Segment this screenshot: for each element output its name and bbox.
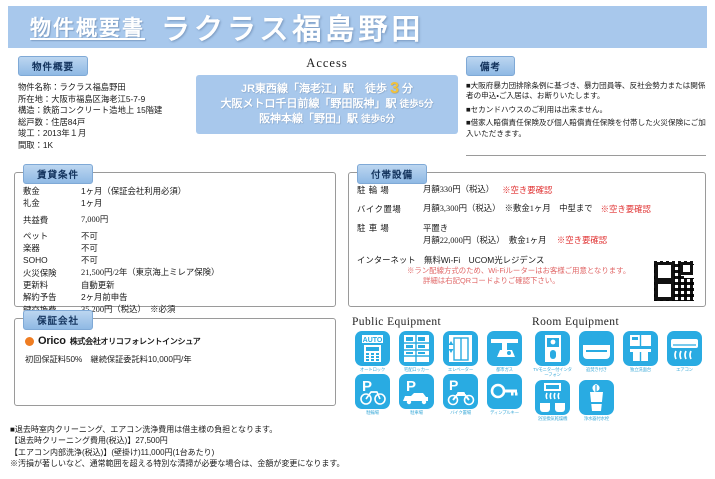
equipment-item: TVモニター付インターフォン — [532, 331, 573, 378]
guarantee-brand: Orico — [38, 335, 66, 347]
table-row: バイク置場 月額3,300円（税込） ※敷金1ヶ月 中型まで ※空き要確認 — [357, 203, 705, 215]
equipment-item: 追焚き付き — [576, 331, 617, 378]
guarantee-logo-row: Orico 株式会社オリコフォレントインシュア — [25, 335, 335, 347]
row-key: 駐 車 場 — [357, 222, 423, 247]
access-line-2: 大阪メトロ千日前線「野田阪神」駅 徒歩5分 — [200, 97, 454, 112]
table-row: 共益費 7,000円 — [23, 214, 335, 226]
equipment-label: 駐輪場 — [352, 410, 393, 415]
svg-text:P: P — [406, 378, 416, 395]
table-row: 解約予告 2ヶ月前申告 — [23, 291, 335, 303]
equipment-label: バイク置場 — [440, 410, 481, 415]
list-item: 物件名称：ラクラス福島野田 — [18, 82, 198, 94]
equipment-label: 宅配ロッカー — [396, 367, 437, 372]
table-row: 駐 輪 場 月額330円（税込） ※空き要確認 — [357, 184, 705, 196]
table-row: 駐 車 場 平置き 月額22,000円（税込） 敷金1ヶ月 ※空き要確認 — [357, 222, 705, 247]
remarks-item: ■セカンドハウスのご利用は出来ません。 — [466, 105, 706, 115]
row-key: ペット — [23, 230, 81, 242]
equipment-label: 浴室換気乾燥機 — [532, 416, 573, 421]
equipment-label: 独立洗面台 — [620, 367, 661, 372]
row-key: 火災保険 — [23, 267, 81, 279]
row-value: 7,000円 — [81, 214, 108, 226]
row-note: ※空き要確認 — [601, 203, 651, 215]
document-header: 物件概要書 ラクラス福島野田 — [8, 6, 707, 48]
equipment-label: オートロック — [352, 367, 393, 372]
row-key: バイク置場 — [357, 203, 423, 215]
equipment-item: 浄水器付水栓 — [576, 380, 617, 421]
equipment-label: 都市ガス — [484, 367, 525, 372]
access-walk-minutes-highlight: 3 — [390, 80, 399, 97]
remarks-divider — [466, 155, 706, 156]
row-value: 2ヶ月前申告 — [81, 291, 128, 303]
row-value: 不可 — [81, 242, 98, 254]
rent-conditions-rows: 敷金 1ヶ月（保証会社利用必須） 礼金 1ヶ月 共益費 7,000円 ペット 不… — [23, 185, 335, 316]
access-line-1-suffix: 分 — [402, 83, 413, 95]
row-note: ※空き要確認 — [502, 184, 552, 196]
washstand-icon — [623, 331, 658, 366]
access-section: Access JR東西線「海老江」駅 徒歩 3 分 大阪メトロ千日前線「野田阪神… — [196, 56, 458, 134]
equipment-item: 都市ガス — [484, 331, 525, 372]
row-note: ※空き要確認 — [557, 235, 607, 245]
air-conditioner-icon — [667, 331, 702, 366]
row-value: 不可 — [81, 254, 98, 266]
access-line-3-suffix: 徒歩6分 — [361, 114, 395, 125]
row-key: 楽器 — [23, 242, 81, 254]
list-item: 竣工：2013年１月 — [18, 128, 198, 140]
bath-reheat-icon — [579, 331, 614, 366]
row-value: 35,200円（税込） ※必須 — [81, 304, 175, 316]
equipment-item: エレベーター — [440, 331, 481, 372]
row-key: 共益費 — [23, 214, 81, 226]
equipment-label: エレベーター — [440, 367, 481, 372]
row-key: 駐 輪 場 — [357, 184, 423, 196]
access-line-3-text: 阪神本線「野田」駅 — [259, 113, 358, 125]
list-item: 構造：鉄筋コンクリート造地上 15階建 — [18, 105, 198, 117]
building-name-title: ラクラス福島野田 — [161, 6, 424, 48]
table-row: ペット 不可 — [23, 230, 335, 242]
equipment-item: P 駐車場 — [396, 374, 437, 415]
row-value: 1ヶ月（保証会社利用必須） — [81, 185, 186, 197]
remarks-body: ■大阪府暴力団排除条例に基づき、暴力団員等、反社会勢力または関係者の申込・ご入居… — [466, 81, 706, 139]
public-equipment-title: Public Equipment — [352, 316, 528, 328]
public-equipment-section: Public Equipment AUTO オートロック — [352, 316, 528, 416]
rent-conditions-tab-label: 賃貸条件 — [23, 164, 93, 184]
row-value-secondary: 月額22,000円（税込） 敷金1ヶ月 ※空き要確認 — [423, 234, 607, 247]
orico-logo-icon — [25, 337, 34, 346]
row-value: 21,500円/2年（東京海上ミレア保険） — [81, 267, 219, 279]
property-overview-tab-label: 物件概要 — [18, 56, 88, 76]
guarantee-body: Orico 株式会社オリコフォレントインシュア 初回保証料50% 継続保証委託料… — [25, 335, 335, 365]
equipment-item: P 駐輪場 — [352, 374, 393, 415]
equipment-item: P バイク置場 — [440, 374, 481, 415]
row-value: 1ヶ月 — [81, 197, 102, 209]
facilities-panel: 付帯設備 駐 輪 場 月額330円（税込） ※空き要確認 バイク置場 月額3,3… — [348, 172, 706, 307]
facilities-tab-label: 付帯設備 — [357, 164, 427, 184]
list-item: 間取：1K — [18, 140, 198, 152]
property-summary-document: 物件概要書 ラクラス福島野田 物件概要 物件名称：ラクラス福島野田 所在地：大阪… — [0, 0, 715, 479]
footer-note: 【退去時クリーニング費用(税込)】27,500円 — [10, 435, 570, 446]
dimple-key-icon — [487, 374, 522, 409]
svg-text:P: P — [449, 377, 458, 393]
row-key: 更新料 — [23, 279, 81, 291]
equipment-item: AUTO オートロック — [352, 331, 393, 372]
auto-lock-icon: AUTO — [355, 331, 390, 366]
property-overview-list: 物件名称：ラクラス福島野田 所在地：大阪市福島区海老江5-7-9 構造：鉄筋コン… — [18, 82, 198, 152]
equipment-item: 宅配ロッカー — [396, 331, 437, 372]
facilities-rows: 駐 輪 場 月額330円（税込） ※空き要確認 バイク置場 月額3,300円（税… — [357, 184, 705, 286]
access-line-3: 阪神本線「野田」駅 徒歩6分 — [200, 112, 454, 127]
access-line-1-text: JR東西線「海老江」駅 徒歩 — [241, 83, 387, 95]
guarantee-fee: 初回保証料50% 継続保証委託料10,000円/年 — [25, 353, 335, 365]
row-key: 解約予告 — [23, 291, 81, 303]
equipment-label: TVモニター付インターフォン — [532, 367, 573, 378]
access-line-1: JR東西線「海老江」駅 徒歩 3 分 — [200, 81, 454, 97]
access-line-2-suffix: 徒歩5分 — [400, 99, 434, 110]
row-key: 敷金 — [23, 185, 81, 197]
list-item: 総戸数：住居84戸 — [18, 117, 198, 129]
row-value-group: 平置き 月額22,000円（税込） 敷金1ヶ月 ※空き要確認 — [423, 222, 607, 247]
rent-conditions-panel: 賃貸条件 敷金 1ヶ月（保証会社利用必須） 礼金 1ヶ月 共益費 7,000円 … — [14, 172, 336, 307]
public-equipment-grid: AUTO オートロック — [352, 331, 528, 416]
footer-note: ※汚損が著しいなど、通常範囲を超える特別な清掃が必要な場合は、金額が変更になりま… — [10, 458, 570, 469]
guarantee-tab-label: 保証会社 — [23, 310, 93, 330]
delivery-box-icon — [399, 331, 434, 366]
table-row: 火災保険 21,500円/2年（東京海上ミレア保険） — [23, 267, 335, 279]
equipment-label: エアコン — [664, 367, 705, 372]
row-value: 月額330円（税込） — [423, 184, 494, 196]
row-value: 月額3,300円（税込） ※敷金1ヶ月 中型まで — [423, 203, 593, 215]
equipment-item: 浴室換気乾燥機 — [532, 380, 573, 421]
equipment-item: 独立洗面台 — [620, 331, 661, 378]
list-item: 所在地：大阪市福島区海老江5-7-9 — [18, 94, 198, 106]
elevator-icon — [443, 331, 478, 366]
access-box: JR東西線「海老江」駅 徒歩 3 分 大阪メトロ千日前線「野田阪神」駅 徒歩5分… — [196, 75, 458, 134]
equipment-label: ディンプルキー — [484, 410, 525, 415]
bath-dryer-icon — [535, 380, 570, 415]
guarantee-corp-name: 株式会社オリコフォレントインシュア — [70, 336, 201, 347]
bicycle-parking-icon: P — [355, 374, 390, 409]
svg-text:AUTO: AUTO — [363, 337, 383, 344]
intercom-icon — [535, 331, 570, 366]
equipment-item: エアコン — [664, 331, 705, 378]
footer-notes: ■退去時室内クリーニング、エアコン洗浄費用は借主様の負担となります。 【退去時ク… — [10, 424, 570, 470]
access-title: Access — [196, 56, 458, 71]
remarks-item: ■大阪府暴力団排除条例に基づき、暴力団員等、反社会勢力または関係者の申込・ご入居… — [466, 81, 706, 102]
car-parking-icon: P — [399, 374, 434, 409]
remarks-section: 備考 ■大阪府暴力団排除条例に基づき、暴力団員等、反社会勢力または関係者の申込・… — [466, 56, 706, 156]
water-purifier-icon — [579, 380, 614, 415]
equipment-label: 浄水器付水栓 — [576, 416, 617, 421]
equipment-label: 駐車場 — [396, 410, 437, 415]
row-value: 自動更新 — [81, 279, 115, 291]
row-value-2: 月額22,000円（税込） 敷金1ヶ月 — [423, 236, 547, 245]
table-row: 更新料 自動更新 — [23, 279, 335, 291]
remarks-item: ■借家人賠償責任保険及び個人賠償責任保険を付帯した火災保険にご加入いただきます。 — [466, 118, 706, 139]
table-row: 礼金 1ヶ月 — [23, 197, 335, 209]
table-row: 敷金 1ヶ月（保証会社利用必須） — [23, 185, 335, 197]
table-row: 楽器 不可 — [23, 242, 335, 254]
footer-note: 【エアコン内部洗浄(税込)】(壁掛け)11,000円(1台あたり) — [10, 447, 570, 458]
room-equipment-title: Room Equipment — [532, 316, 708, 328]
guarantee-company-panel: 保証会社 Orico 株式会社オリコフォレントインシュア 初回保証料50% 継続… — [14, 318, 336, 406]
row-key: 礼金 — [23, 197, 81, 209]
row-key: SOHO — [23, 254, 81, 266]
document-kind-title: 物件概要書 — [30, 12, 145, 42]
property-overview-section: 物件概要 物件名称：ラクラス福島野田 所在地：大阪市福島区海老江5-7-9 構造… — [18, 56, 198, 152]
water-meter-icon — [487, 331, 522, 366]
room-equipment-section: Room Equipment TVモニター付インターフォン — [532, 316, 708, 421]
bike-parking-icon: P — [443, 374, 478, 409]
table-row: SOHO 不可 — [23, 254, 335, 266]
footer-note: ■退去時室内クリーニング、エアコン洗浄費用は借主様の負担となります。 — [10, 424, 570, 435]
row-value: 平置き — [423, 222, 607, 234]
equipment-item: ディンプルキー — [484, 374, 525, 415]
room-equipment-grid: TVモニター付インターフォン 追焚き付き — [532, 331, 708, 421]
remarks-tab-label: 備考 — [466, 56, 515, 76]
row-value: 不可 — [81, 230, 98, 242]
qr-code-icon[interactable] — [653, 260, 695, 302]
equipment-label: 追焚き付き — [576, 367, 617, 372]
access-line-2-text: 大阪メトロ千日前線「野田阪神」駅 — [221, 98, 397, 110]
